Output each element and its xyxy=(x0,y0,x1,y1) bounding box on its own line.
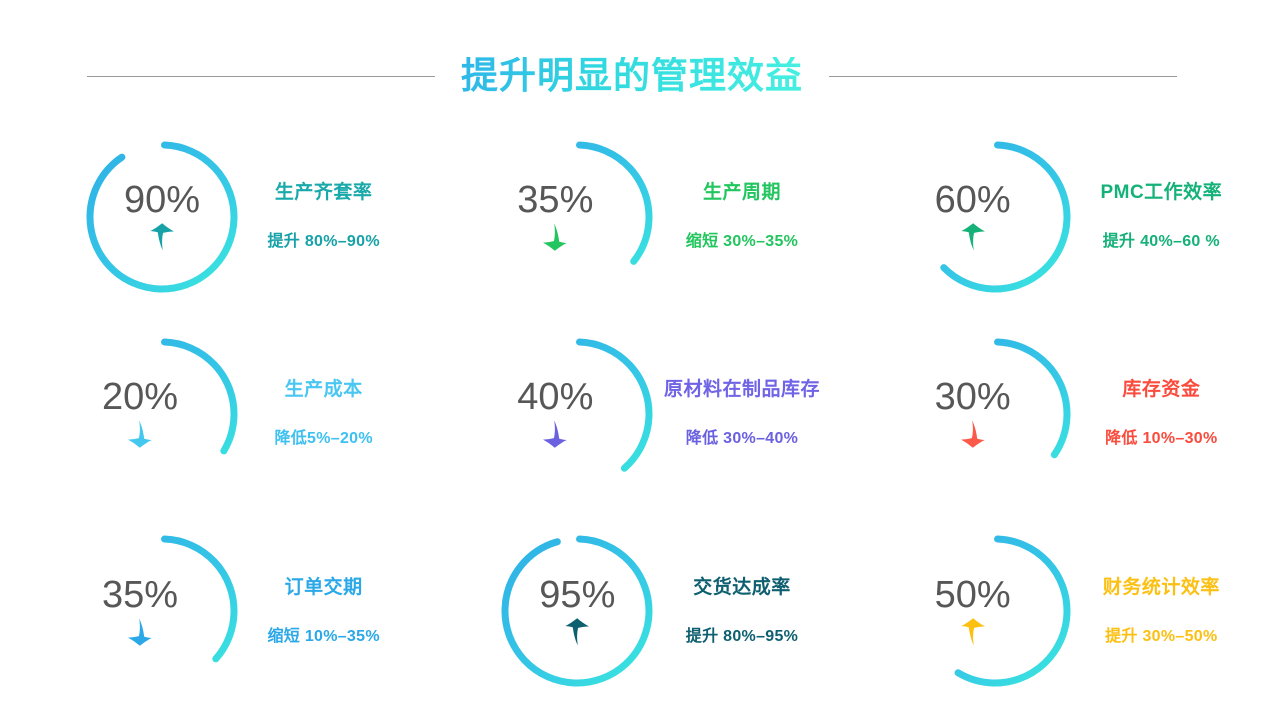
arrow-down-icon xyxy=(541,222,569,252)
metric-card: 60%PMC工作效率提升 40%–60 % xyxy=(843,118,1264,315)
gauge-percent-value: 35% xyxy=(102,576,178,614)
metric-delta: 缩短 10%–35% xyxy=(267,629,379,645)
gauge: 95% xyxy=(493,527,661,695)
arrow-down-icon xyxy=(959,419,987,449)
metric-labels: 生产周期缩短 30%–35% xyxy=(655,183,842,250)
gauge: 35% xyxy=(493,133,661,301)
gauge: 20% xyxy=(78,330,246,498)
gauge-percent-value: 95% xyxy=(539,576,615,614)
trend-arrow xyxy=(959,419,987,449)
page-header: 提升明显的管理效益 xyxy=(0,44,1264,108)
metric-name: 生产周期 xyxy=(703,183,781,202)
metric-delta: 提升 80%–95% xyxy=(686,629,798,645)
gauge-center: 20% xyxy=(56,330,224,498)
metric-delta: 降低 30%–40% xyxy=(686,431,798,447)
metric-delta: 提升 40%–60 % xyxy=(1103,234,1220,250)
metric-name: 生产齐套率 xyxy=(275,183,373,202)
gauge: 30% xyxy=(911,330,1079,498)
gauge-percent-value: 20% xyxy=(102,378,178,416)
metric-card: 50%财务统计效率提升 30%–50% xyxy=(843,513,1264,710)
trend-arrow xyxy=(959,222,987,252)
trend-arrow xyxy=(959,617,987,647)
trend-arrow xyxy=(126,419,154,449)
metric-name: 财务统计效率 xyxy=(1103,578,1220,597)
trend-arrow xyxy=(563,617,591,647)
metric-labels: 生产齐套率提升 80%–90% xyxy=(240,183,421,250)
arrow-up-icon xyxy=(959,617,987,647)
metric-name: PMC工作效率 xyxy=(1100,183,1222,202)
header-rule-left xyxy=(87,76,435,77)
trend-arrow xyxy=(126,617,154,647)
metric-labels: 财务统计效率提升 30%–50% xyxy=(1073,578,1264,645)
metric-labels: 订单交期缩短 10%–35% xyxy=(240,578,421,645)
gauge: 60% xyxy=(911,133,1079,301)
metric-delta: 提升 80%–90% xyxy=(267,234,379,250)
metric-card: 40%原材料在制品库存降低 30%–40% xyxy=(421,315,842,512)
metric-card: 90%生产齐套率提升 80%–90% xyxy=(0,118,421,315)
metric-delta: 缩短 30%–35% xyxy=(686,234,798,250)
gauge-center: 35% xyxy=(56,527,224,695)
arrow-down-icon xyxy=(126,617,154,647)
gauge-percent-value: 60% xyxy=(935,181,1011,219)
metric-name: 生产成本 xyxy=(285,380,363,399)
gauge-percent-value: 30% xyxy=(935,378,1011,416)
metric-labels: PMC工作效率提升 40%–60 % xyxy=(1073,183,1264,250)
metric-name: 订单交期 xyxy=(285,578,363,597)
gauge-center: 50% xyxy=(889,527,1057,695)
gauge: 35% xyxy=(78,527,246,695)
gauge-percent-value: 50% xyxy=(935,576,1011,614)
header-rule-right xyxy=(829,76,1177,77)
page-title: 提升明显的管理效益 xyxy=(461,57,803,96)
gauge-percent-value: 40% xyxy=(517,378,593,416)
metric-labels: 原材料在制品库存降低 30%–40% xyxy=(655,380,842,447)
gauge-center: 30% xyxy=(889,330,1057,498)
metric-labels: 生产成本降低5%–20% xyxy=(240,380,421,447)
gauge-center: 95% xyxy=(493,527,661,695)
gauge-center: 35% xyxy=(471,133,639,301)
metric-labels: 库存资金降低 10%–30% xyxy=(1073,380,1264,447)
metric-delta: 降低5%–20% xyxy=(274,431,372,447)
gauge: 90% xyxy=(78,133,246,301)
gauge-center: 60% xyxy=(889,133,1057,301)
arrow-up-icon xyxy=(148,222,176,252)
gauge-percent-value: 35% xyxy=(517,181,593,219)
metric-name: 库存资金 xyxy=(1122,380,1200,399)
arrow-down-icon xyxy=(126,419,154,449)
arrow-up-icon xyxy=(563,617,591,647)
metric-card: 95%交货达成率提升 80%–95% xyxy=(421,513,842,710)
metric-card: 20%生产成本降低5%–20% xyxy=(0,315,421,512)
metrics-grid: 90%生产齐套率提升 80%–90%35%生产周期缩短 30%–35%60%PM… xyxy=(0,118,1264,710)
metric-card: 30%库存资金降低 10%–30% xyxy=(843,315,1264,512)
trend-arrow xyxy=(541,419,569,449)
metric-name: 交货达成率 xyxy=(693,578,791,597)
metric-labels: 交货达成率提升 80%–95% xyxy=(655,578,842,645)
metric-delta: 提升 30%–50% xyxy=(1105,629,1217,645)
gauge: 50% xyxy=(911,527,1079,695)
trend-arrow xyxy=(148,222,176,252)
metric-delta: 降低 10%–30% xyxy=(1105,431,1217,447)
trend-arrow xyxy=(541,222,569,252)
arrow-up-icon xyxy=(959,222,987,252)
gauge-percent-value: 90% xyxy=(124,181,200,219)
gauge-center: 40% xyxy=(471,330,639,498)
arrow-down-icon xyxy=(541,419,569,449)
metric-card: 35%订单交期缩短 10%–35% xyxy=(0,513,421,710)
metric-name: 原材料在制品库存 xyxy=(664,380,820,399)
gauge-center: 90% xyxy=(78,133,246,301)
gauge: 40% xyxy=(493,330,661,498)
metric-card: 35%生产周期缩短 30%–35% xyxy=(421,118,842,315)
